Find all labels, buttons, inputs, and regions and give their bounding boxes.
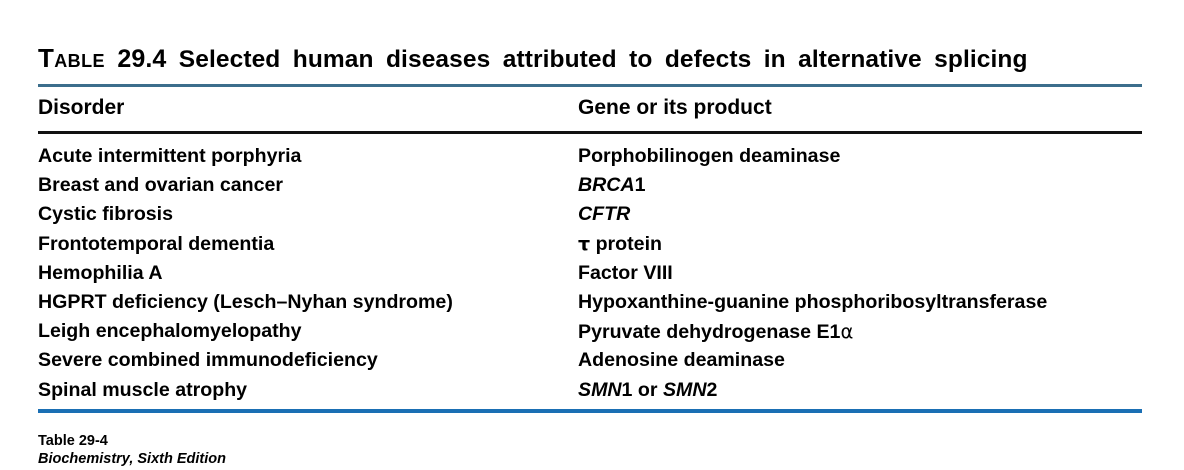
gene-symbol-italic: SMN [578,379,622,401]
cell-gene: CFTR [578,203,630,226]
table-row: Cystic fibrosis CFTR [38,203,1142,232]
table-row: HGPRT deficiency (Lesch–Nyhan syndrome) … [38,291,1142,320]
column-header-gene: Gene or its product [578,96,772,120]
column-header-disorder: Disorder [38,96,124,120]
table-title-label: Table [38,43,105,73]
gene-plain: Hypoxanthine-guanine phosphoribosyltrans… [578,291,1047,313]
table-row: Severe combined immunodeficiency Adenosi… [38,349,1142,378]
table-figure: Table 29.4 Selected human diseases attri… [0,0,1184,470]
gene-plain: Pyruvate dehydrogenase E1 [578,321,840,343]
table-row: Leigh encephalomyelopathy Pyruvate dehyd… [38,320,1142,349]
greek-tau-glyph: τ [578,233,590,255]
cell-disorder: Acute intermittent porphyria [38,145,301,168]
gene-plain: protein [590,233,662,255]
gene-plain: Factor VIII [578,262,673,284]
cell-disorder: HGPRT deficiency (Lesch–Nyhan syndrome) [38,291,453,314]
caption-source-title: Biochemistry, Sixth Edition [38,450,538,468]
gene-plain: Porphobilinogen deaminase [578,145,840,167]
cell-disorder: Spinal muscle atrophy [38,379,247,402]
table-row: Breast and ovarian cancer BRCA1 [38,174,1142,203]
table-header-rule [38,131,1142,134]
greek-alpha-glyph: α [840,320,853,343]
cell-gene: τ protein [578,233,662,256]
table-row: Hemophilia A Factor VIII [38,262,1142,291]
gene-plain: 2 [706,379,717,401]
table-row: Frontotemporal dementia τ protein [38,233,1142,262]
cell-disorder: Hemophilia A [38,262,162,285]
table-top-rule [38,84,1142,87]
table-title-text: Selected human diseases attributed to de… [179,46,1028,73]
cell-gene: SMN1 or SMN2 [578,379,717,402]
gene-symbol-italic: CFTR [578,203,630,225]
table-title-number: 29.4 [117,45,166,73]
cell-disorder: Cystic fibrosis [38,203,173,226]
cell-disorder: Severe combined immunodeficiency [38,349,378,372]
table-title: Table 29.4 Selected human diseases attri… [38,43,1142,75]
cell-gene: Adenosine deaminase [578,349,785,372]
cell-gene: Hypoxanthine-guanine phosphoribosyltrans… [578,291,1047,314]
cell-gene: Porphobilinogen deaminase [578,145,840,168]
cell-gene: BRCA1 [578,174,646,197]
figure-caption: Table 29-4 Biochemistry, Sixth Edition [38,432,538,468]
cell-gene: Factor VIII [578,262,673,285]
table-bottom-rule [38,409,1142,413]
gene-plain: Adenosine deaminase [578,349,785,371]
caption-table-number: Table 29-4 [38,432,538,450]
gene-plain: 1 [635,174,646,196]
cell-disorder: Breast and ovarian cancer [38,174,283,197]
table-row: Spinal muscle atrophy SMN1 or SMN2 [38,379,1142,408]
table-header-row: Disorder Gene or its product [38,96,1142,126]
cell-gene: Pyruvate dehydrogenase E1α [578,320,853,344]
table-row: Acute intermittent porphyria Porphobilin… [38,145,1142,174]
gene-plain-middle: 1 or [622,379,663,401]
gene-symbol-italic: BRCA [578,174,635,196]
cell-disorder: Leigh encephalomyelopathy [38,320,301,343]
gene-symbol-italic-second: SMN [663,379,707,401]
cell-disorder: Frontotemporal dementia [38,233,274,256]
table-body: Acute intermittent porphyria Porphobilin… [38,145,1142,408]
